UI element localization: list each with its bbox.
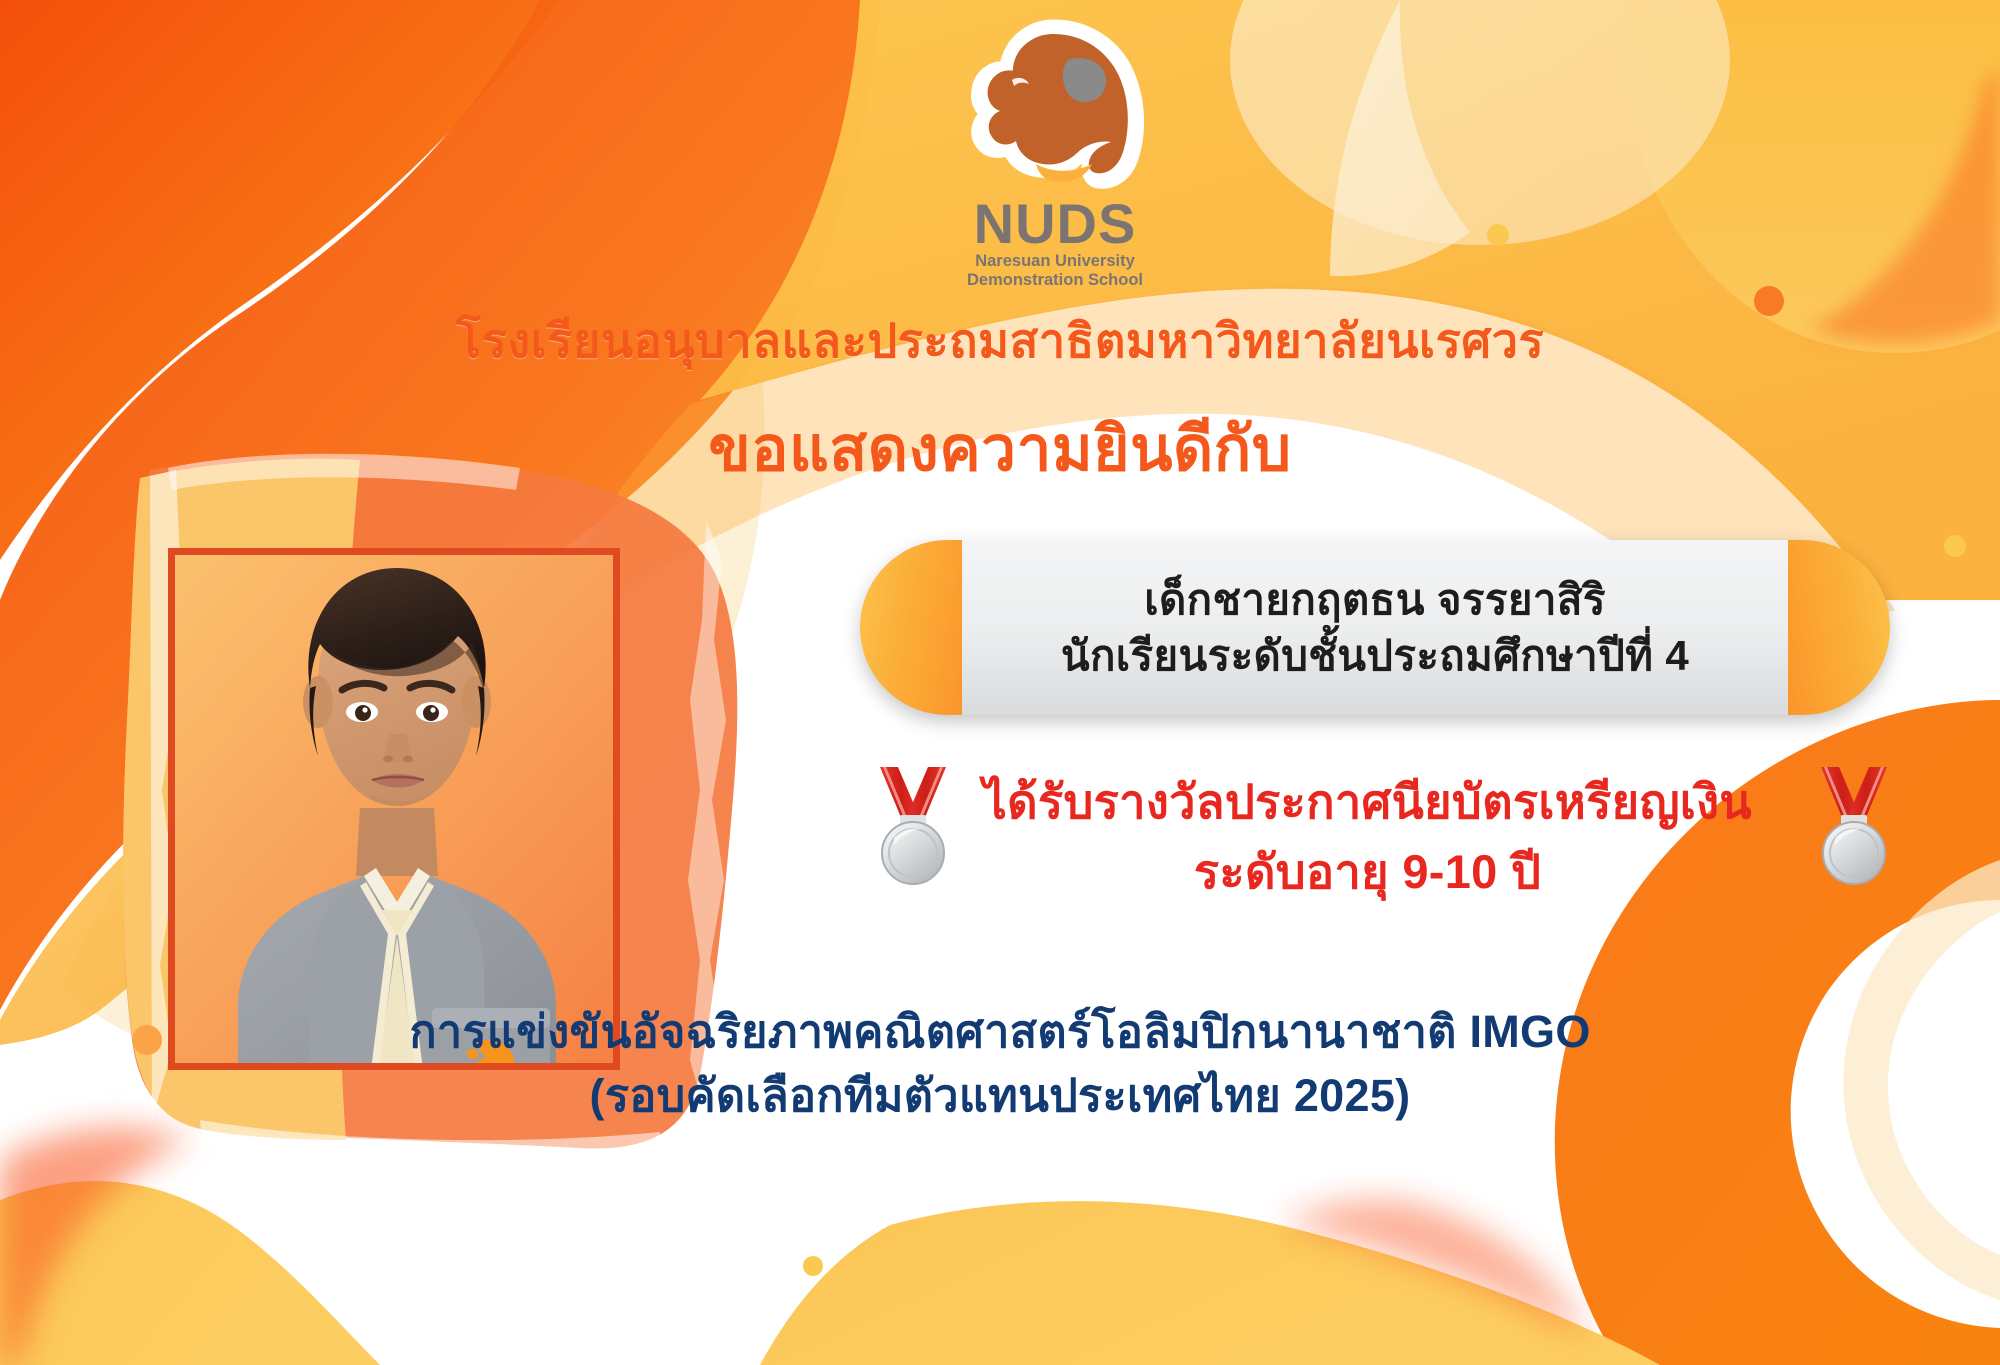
photo-frame-border	[168, 548, 620, 1070]
dot-right-yellow	[1944, 535, 1966, 557]
congratulations-poster: NUDS Naresuan University Demonstration S…	[0, 0, 2000, 1365]
dot-top-right-yellow	[1487, 224, 1509, 246]
school-name-heading: โรงเรียนอนุบาลและประถมสาธิตมหาวิทยาลัยนเ…	[0, 303, 2000, 378]
competition-name: การแข่งขันอัจฉริยภาพคณิตศาสตร์โอลิมปิกนา…	[0, 1000, 2000, 1064]
school-logo: NUDS Naresuan University Demonstration S…	[925, 18, 1185, 288]
award-text: ได้รับรางวัลประกาศนียบัตรเหรียญเงิน ระดั…	[830, 767, 1905, 906]
student-name-banner: เด็กชายกฤตธน จรรยาสิริ นักเรียนระดับชั้น…	[860, 540, 1890, 715]
award-block: ได้รับรางวัลประกาศนียบัตรเหรียญเงิน ระดั…	[830, 765, 1905, 950]
logo-wordmark: NUDS	[925, 197, 1185, 250]
banner-panel: เด็กชายกฤตธน จรรยาสิริ นักเรียนระดับชั้น…	[962, 540, 1788, 715]
silver-medal-icon	[1813, 765, 1895, 887]
dot-bottom-yellow	[803, 1256, 823, 1276]
student-grade: นักเรียนระดับชั้นประถมศึกษาปีที่ 4	[1061, 630, 1689, 681]
award-age-group: ระดับอายุ 9-10 ปี	[830, 837, 1905, 907]
elephant-icon	[950, 18, 1160, 203]
award-title: ได้รับรางวัลประกาศนียบัตรเหรียญเงิน	[830, 767, 1905, 837]
congratulation-heading: ขอแสดงความยินดีกับ	[0, 400, 2000, 498]
banner-cap-right	[1772, 540, 1890, 715]
competition-round: (รอบคัดเลือกทีมตัวแทนประเทศไทย 2025)	[0, 1064, 2000, 1128]
banner-cap-left	[860, 540, 978, 715]
competition-block: การแข่งขันอัจฉริยภาพคณิตศาสตร์โอลิมปิกนา…	[0, 1000, 2000, 1128]
student-name: เด็กชายกฤตธน จรรยาสิริ	[1144, 574, 1606, 625]
logo-subtitle: Naresuan University Demonstration School	[925, 252, 1185, 289]
